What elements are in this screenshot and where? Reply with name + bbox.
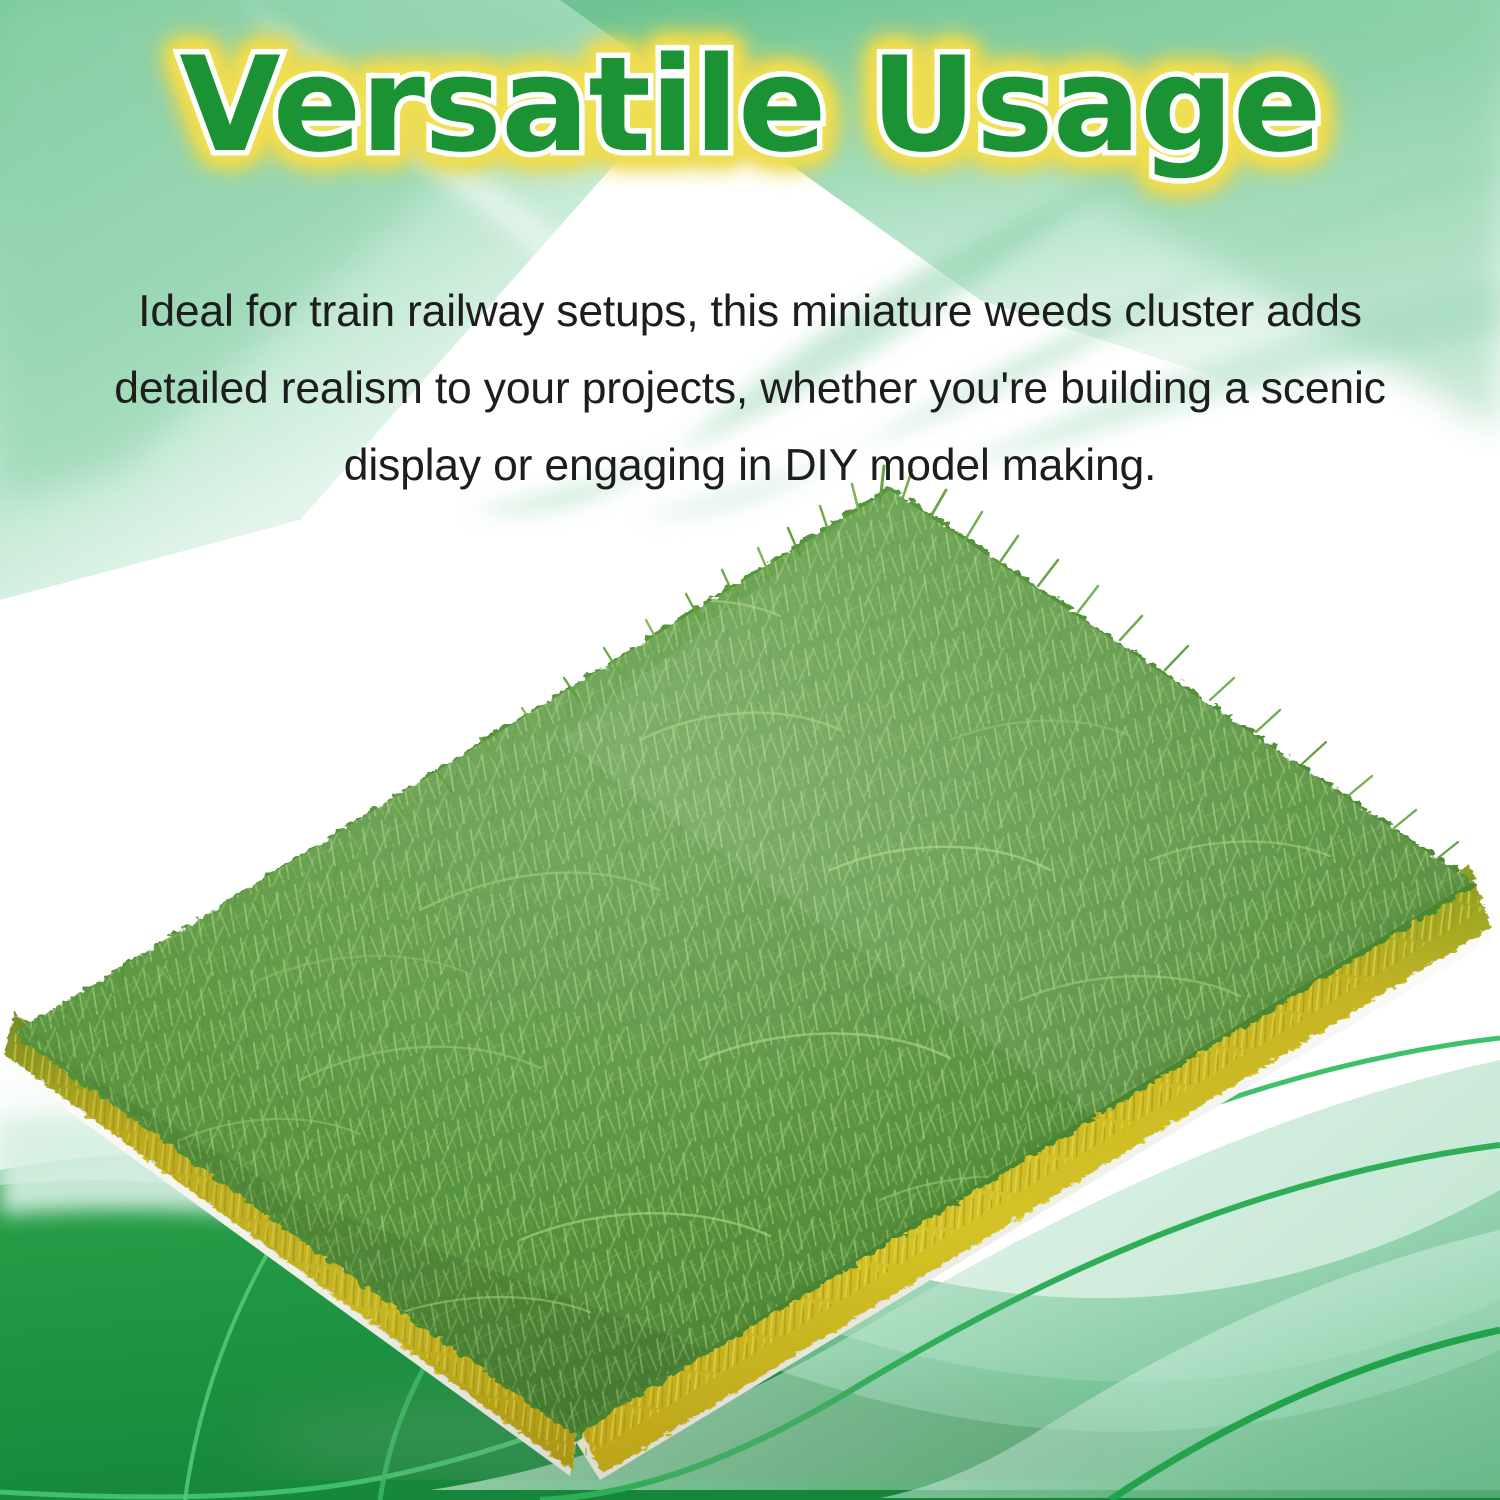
description-text: Ideal for train railway setups, this min… [75, 273, 1425, 504]
product-image [0, 440, 1500, 1480]
mat-top-grass-face [0, 440, 1500, 1480]
page-title: Versatile Usage [179, 38, 1320, 172]
banner-page: Versatile Usage Ideal for train railway … [0, 0, 1500, 1500]
title-container: Versatile Usage [0, 38, 1500, 172]
grass-mat-illustration [0, 440, 1500, 1480]
